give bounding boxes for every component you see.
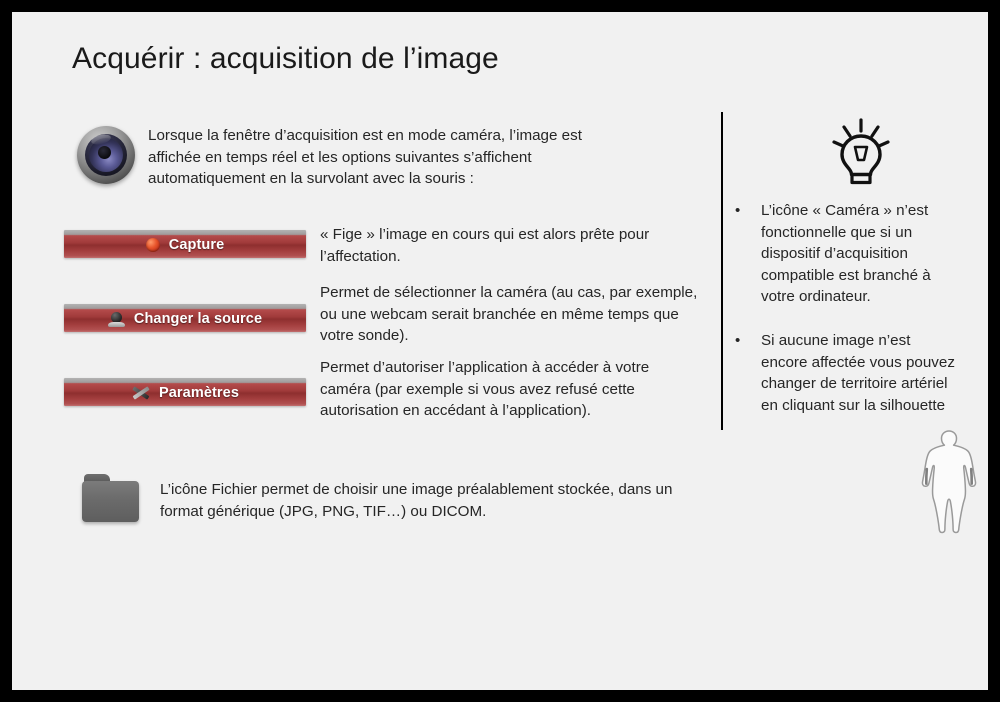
folder-body	[82, 481, 139, 522]
settings-description: Permet d’autoriser l’application à accéd…	[320, 357, 690, 422]
file-note-paragraph: L’icône Fichier permet de choisir une im…	[160, 479, 705, 522]
human-body-silhouette-icon[interactable]	[908, 428, 988, 541]
capture-description: « Fige » l’image en cours qui est alors …	[320, 224, 690, 267]
folder-icon[interactable]	[80, 472, 142, 524]
bullet-marker: •	[735, 200, 761, 308]
settings-button-label: Paramètres	[159, 385, 239, 401]
bullet-marker: •	[735, 330, 761, 416]
settings-button[interactable]: Paramètres	[64, 378, 306, 406]
slide-canvas: Acquérir : acquisition de l’image Lorsqu…	[12, 12, 988, 690]
tools-icon	[131, 385, 150, 401]
settings-button-content: Paramètres	[131, 385, 239, 401]
bullet-text: Si aucune image n’est encore affectée vo…	[761, 330, 957, 416]
bullet-text: L’icône « Caméra » n’est fonctionnelle q…	[761, 200, 957, 308]
capture-button[interactable]: Capture	[64, 230, 306, 258]
change-source-button-content: Changer la source	[108, 311, 262, 327]
bullet-item-camera-requirement: • L’icône « Caméra » n’est fonctionnelle…	[735, 200, 957, 308]
webcam-lens-ball	[111, 312, 122, 323]
webcam-stand	[108, 322, 125, 327]
lens-pupil	[98, 146, 111, 159]
red-sphere-icon	[146, 238, 160, 252]
camera-lens-icon[interactable]	[74, 124, 140, 186]
vertical-divider	[721, 112, 723, 430]
lightbulb-icon	[830, 116, 892, 193]
capture-button-content: Capture	[146, 237, 225, 253]
capture-button-label: Capture	[169, 237, 225, 253]
bullet-item-silhouette-hint: • Si aucune image n’est encore affectée …	[735, 330, 957, 416]
intro-paragraph: Lorsque la fenêtre d’acquisition est en …	[148, 125, 633, 190]
change-source-button-label: Changer la source	[134, 311, 262, 327]
page-title: Acquérir : acquisition de l’image	[72, 42, 499, 76]
webcam-icon	[108, 312, 125, 327]
change-source-button[interactable]: Changer la source	[64, 304, 306, 332]
change-source-description: Permet de sélectionner la caméra (au cas…	[320, 282, 705, 347]
